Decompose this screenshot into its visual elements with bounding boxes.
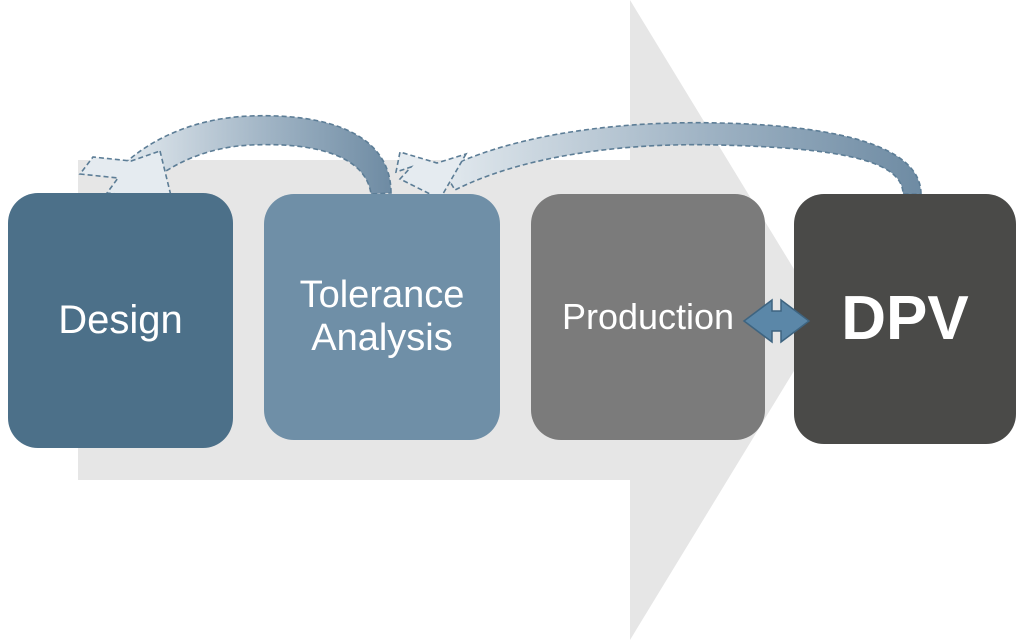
diagram-canvas: Design Tolerance Analysis Production DPV	[0, 0, 1024, 640]
bidirectional-arrow-layer	[0, 0, 1024, 640]
bidirectional-arrow-production-dpv[interactable]	[744, 300, 809, 342]
